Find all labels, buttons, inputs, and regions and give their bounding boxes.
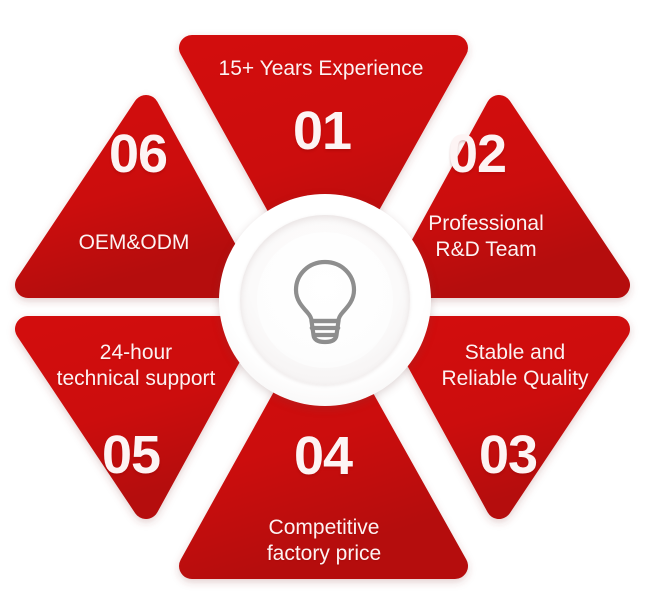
hexagon-segments-svg bbox=[0, 0, 645, 614]
segment-05-shape[interactable] bbox=[28, 329, 243, 506]
segment-06-shape[interactable] bbox=[28, 108, 243, 285]
segment-02-shape[interactable] bbox=[402, 108, 617, 285]
segment-03-shape[interactable] bbox=[402, 329, 617, 506]
hexagon-infographic: 15+ Years Experience 01 Professional R&D… bbox=[0, 0, 645, 614]
